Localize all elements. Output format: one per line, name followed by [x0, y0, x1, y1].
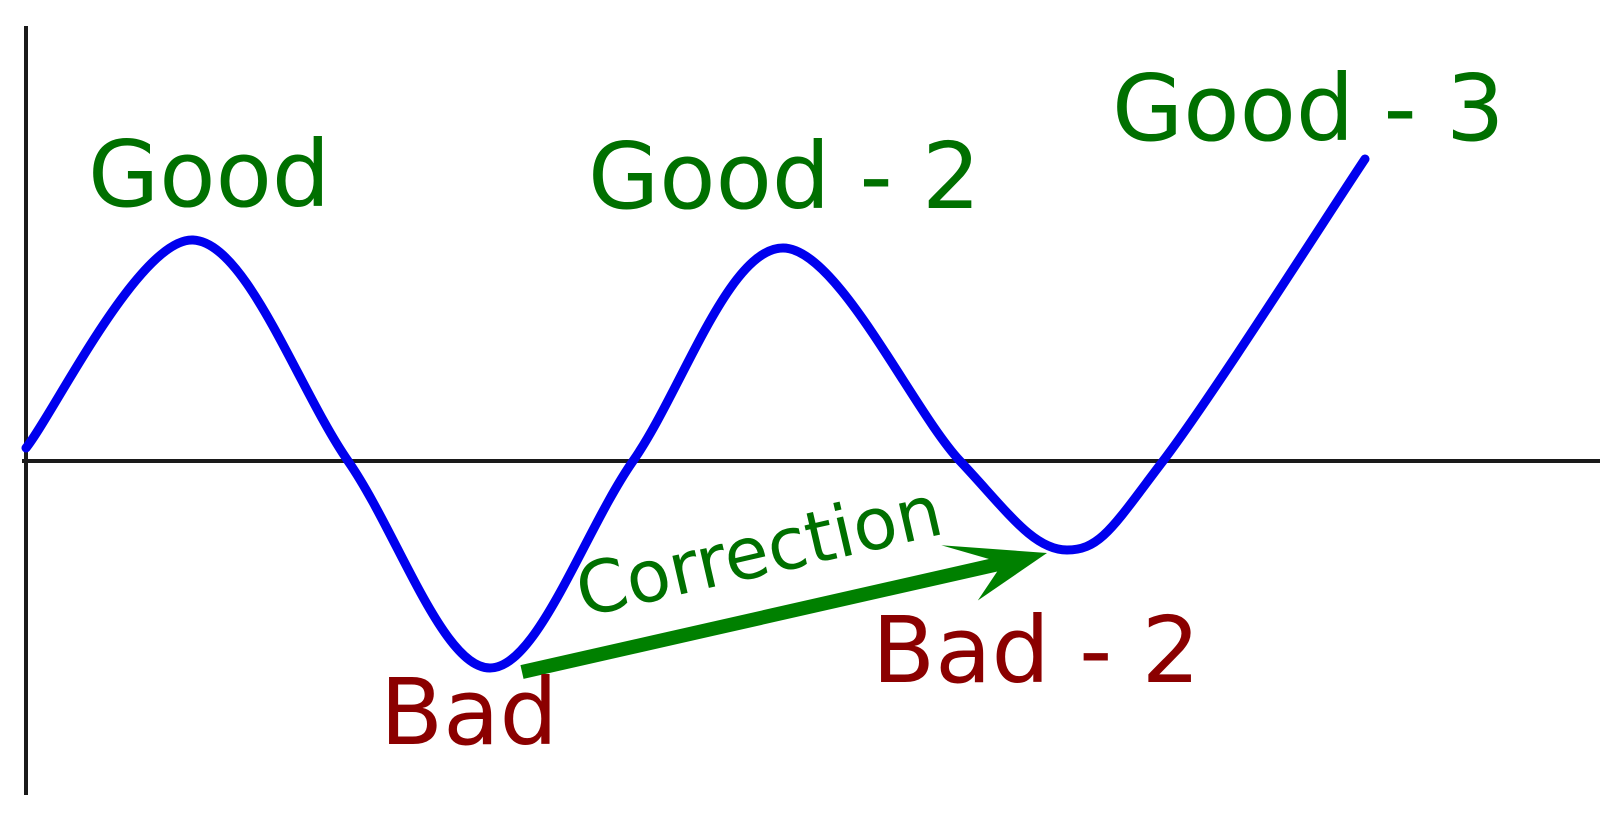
label-good-3: Good - 3 [1112, 55, 1504, 162]
label-good-1: Good [88, 121, 330, 228]
sine-wave-diagram: Good Good - 2 Good - 3 Bad Bad - 2 Corre… [0, 0, 1600, 826]
figure-canvas: Good Good - 2 Good - 3 Bad Bad - 2 Corre… [0, 0, 1600, 826]
label-bad-1: Bad [380, 659, 558, 766]
label-good-2: Good - 2 [588, 123, 980, 230]
label-bad-2: Bad - 2 [872, 597, 1200, 704]
